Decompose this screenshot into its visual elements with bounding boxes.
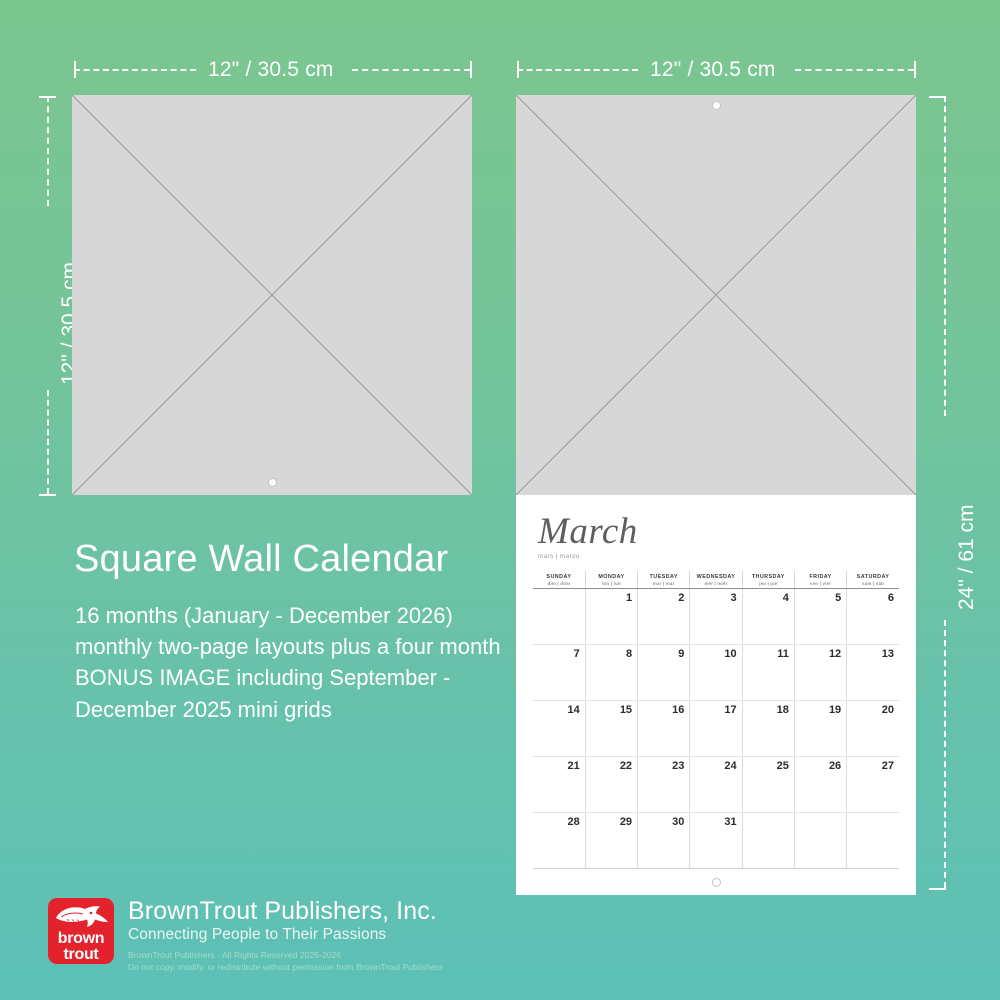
day-header-sublabel: jeu | jue bbox=[743, 581, 794, 586]
day-header-label: SUNDAY bbox=[533, 574, 585, 580]
day-cell: 16 bbox=[638, 701, 690, 757]
logo-word-trout: trout bbox=[48, 947, 114, 963]
day-cell: 13 bbox=[847, 645, 899, 701]
dim-dash-top bbox=[944, 96, 946, 416]
day-header-row: SUNDAY dim | dom MONDAY lun | lun TUESDA… bbox=[533, 571, 899, 589]
day-cell: 11 bbox=[742, 645, 794, 701]
day-header-thursday: THURSDAY jeu | jue bbox=[742, 571, 794, 589]
calendar-image-panel-right bbox=[516, 95, 916, 495]
day-cell: 9 bbox=[638, 645, 690, 701]
dimension-label-top-right: 12" / 30.5 cm bbox=[650, 58, 776, 82]
day-cell: 25 bbox=[742, 757, 794, 813]
dim-dash-top bbox=[47, 96, 49, 206]
browntrout-logo: brown trout bbox=[48, 898, 114, 964]
dim-tick-bottom bbox=[39, 494, 56, 496]
day-cell: 31 bbox=[690, 813, 742, 869]
day-cell: 1 bbox=[585, 589, 637, 645]
day-cell: 27 bbox=[847, 757, 899, 813]
product-description: 16 months (January - December 2026) mont… bbox=[75, 600, 525, 725]
day-cell bbox=[847, 813, 899, 869]
day-header-wednesday: WEDNESDAY mer | miér bbox=[690, 571, 742, 589]
day-header-sublabel: mar | mar bbox=[638, 581, 689, 586]
placeholder-cross-icon bbox=[72, 95, 472, 495]
dim-tick-bottom bbox=[929, 888, 946, 890]
day-header-sunday: SUNDAY dim | dom bbox=[533, 571, 585, 589]
day-cell: 22 bbox=[585, 757, 637, 813]
week-row: 14 15 16 17 18 19 20 bbox=[533, 701, 899, 757]
publisher-tagline: Connecting People to Their Passions bbox=[128, 926, 443, 944]
week-row: 21 22 23 24 25 26 27 bbox=[533, 757, 899, 813]
legal-copyright-line: BrownTrout Publishers - All Rights Reser… bbox=[128, 950, 443, 961]
day-cell: 29 bbox=[585, 813, 637, 869]
dimension-label-top-left: 12" / 30.5 cm bbox=[208, 58, 334, 82]
day-cell: 6 bbox=[847, 589, 899, 645]
week-row: 1 2 3 4 5 6 bbox=[533, 589, 899, 645]
hole-punch-icon bbox=[712, 878, 721, 887]
hole-punch-icon bbox=[268, 478, 277, 487]
day-cell: 14 bbox=[533, 701, 585, 757]
day-cell: 12 bbox=[794, 645, 846, 701]
page-title: Square Wall Calendar bbox=[74, 538, 448, 581]
day-cell: 28 bbox=[533, 813, 585, 869]
placeholder-cross-icon bbox=[516, 95, 916, 495]
logo-word-brown: brown bbox=[48, 931, 114, 947]
month-heading: March mars | marzo bbox=[538, 513, 638, 560]
dim-dash-left bbox=[74, 69, 196, 71]
day-header-label: WEDNESDAY bbox=[690, 574, 741, 580]
day-cell: 21 bbox=[533, 757, 585, 813]
day-header-label: SATURDAY bbox=[847, 574, 899, 580]
day-cell: 17 bbox=[690, 701, 742, 757]
day-header-sublabel: mer | miér bbox=[690, 581, 741, 586]
day-cell: 10 bbox=[690, 645, 742, 701]
day-cell bbox=[742, 813, 794, 869]
day-header-sublabel: sam | sáb bbox=[847, 581, 899, 586]
day-cell: 20 bbox=[847, 701, 899, 757]
day-header-saturday: SATURDAY sam | sáb bbox=[847, 571, 899, 589]
week-row: 7 8 9 10 11 12 13 bbox=[533, 645, 899, 701]
day-cell: 30 bbox=[638, 813, 690, 869]
dim-tick-right bbox=[914, 61, 916, 78]
day-cell bbox=[794, 813, 846, 869]
day-cell: 18 bbox=[742, 701, 794, 757]
day-header-sublabel: lun | lun bbox=[586, 581, 637, 586]
publisher-name: BrownTrout Publishers, Inc. bbox=[128, 898, 443, 924]
day-header-friday: FRIDAY ven | vier bbox=[794, 571, 846, 589]
day-cell: 23 bbox=[638, 757, 690, 813]
publisher-footer: brown trout BrownTrout Publishers, Inc. … bbox=[48, 898, 443, 973]
week-row: 28 29 30 31 bbox=[533, 813, 899, 869]
day-cell: 2 bbox=[638, 589, 690, 645]
trout-fish-icon bbox=[52, 903, 110, 929]
dimension-label-right: 24" / 61 cm bbox=[955, 504, 979, 610]
month-grid-table: SUNDAY dim | dom MONDAY lun | lun TUESDA… bbox=[533, 571, 899, 869]
day-header-label: MONDAY bbox=[586, 574, 637, 580]
day-header-monday: MONDAY lun | lun bbox=[585, 571, 637, 589]
day-cell: 8 bbox=[585, 645, 637, 701]
dim-dash-right bbox=[352, 69, 470, 71]
month-name: March bbox=[538, 513, 638, 550]
day-header-tuesday: TUESDAY mar | mar bbox=[638, 571, 690, 589]
dim-tick-right bbox=[470, 61, 472, 78]
day-header-label: FRIDAY bbox=[795, 574, 846, 580]
legal-restriction-line: Do not copy, modify, or redistribute wit… bbox=[128, 962, 443, 973]
dim-dash-bottom bbox=[47, 390, 49, 494]
day-header-label: THURSDAY bbox=[743, 574, 794, 580]
day-header-sublabel: dim | dom bbox=[533, 581, 585, 586]
day-cell bbox=[533, 589, 585, 645]
day-cell: 26 bbox=[794, 757, 846, 813]
day-header-sublabel: ven | vier bbox=[795, 581, 846, 586]
day-cell: 15 bbox=[585, 701, 637, 757]
hole-punch-icon bbox=[712, 101, 721, 110]
footer-text-block: BrownTrout Publishers, Inc. Connecting P… bbox=[128, 898, 443, 973]
calendar-grid-page: March mars | marzo SUNDAY dim | dom MOND… bbox=[516, 495, 916, 895]
dim-dash-bottom bbox=[944, 620, 946, 888]
day-cell: 4 bbox=[742, 589, 794, 645]
day-cell: 7 bbox=[533, 645, 585, 701]
day-cell: 3 bbox=[690, 589, 742, 645]
day-header-label: TUESDAY bbox=[638, 574, 689, 580]
dim-dash-right bbox=[795, 69, 914, 71]
day-cell: 24 bbox=[690, 757, 742, 813]
month-name-translations: mars | marzo bbox=[538, 553, 638, 560]
day-cell: 5 bbox=[794, 589, 846, 645]
day-cell: 19 bbox=[794, 701, 846, 757]
dim-dash-left bbox=[517, 69, 638, 71]
calendar-image-panel-left bbox=[72, 95, 472, 495]
